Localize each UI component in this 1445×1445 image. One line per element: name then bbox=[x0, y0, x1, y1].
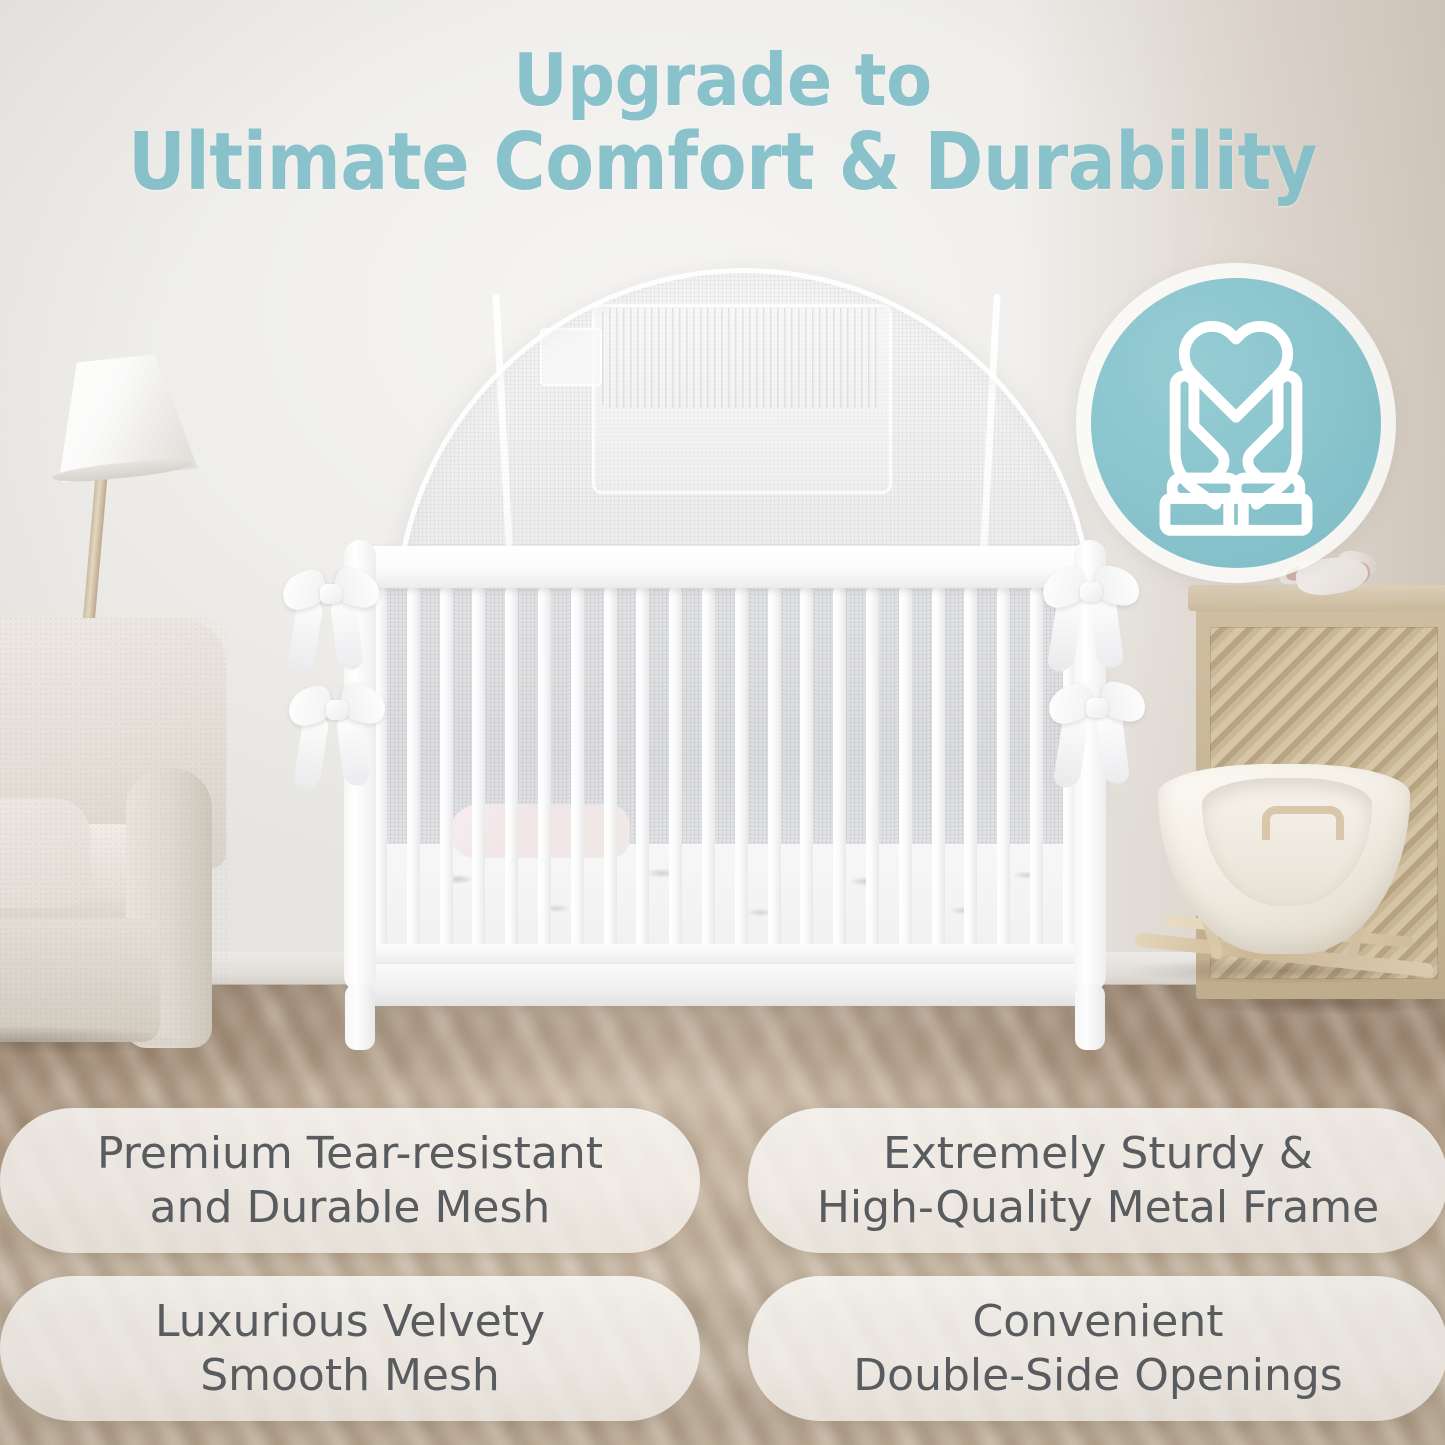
crib-slats bbox=[374, 586, 1076, 948]
crib-slat bbox=[669, 586, 682, 948]
crib-bow-lower-left bbox=[288, 678, 384, 798]
bow-knot bbox=[1086, 698, 1108, 718]
crib-slat bbox=[636, 586, 649, 948]
feature-pill-line-2: Double-Side Openings bbox=[853, 1349, 1342, 1403]
crib-bow-upper-left bbox=[282, 562, 378, 682]
feature-pill-velvety-mesh[interactable]: Luxurious Velvety Smooth Mesh bbox=[0, 1276, 700, 1421]
feature-pill-line-2: High-Quality Metal Frame bbox=[817, 1181, 1379, 1235]
crib-slat bbox=[964, 586, 977, 948]
product-feature-graphic: Upgrade to Ultimate Comfort & Durability bbox=[0, 0, 1445, 1445]
crib-slat bbox=[472, 586, 485, 948]
crib-slat bbox=[800, 586, 813, 948]
crib-foot-right bbox=[1075, 984, 1105, 1050]
crib-slat bbox=[866, 586, 879, 948]
crib-slat bbox=[604, 586, 617, 948]
crib-slat bbox=[997, 586, 1010, 948]
crib-slat bbox=[735, 586, 748, 948]
crib-frame bbox=[330, 546, 1120, 1058]
crib-slat bbox=[571, 586, 584, 948]
bow-tail-left bbox=[1052, 712, 1089, 789]
feature-pill-line-2: and Durable Mesh bbox=[97, 1181, 603, 1235]
hands-holding-heart-icon bbox=[1091, 278, 1381, 568]
armchair-shadow bbox=[0, 1026, 180, 1056]
bow-knot bbox=[320, 584, 342, 604]
headline-line-2: Ultimate Comfort & Durability bbox=[72, 125, 1373, 201]
headline: Upgrade to Ultimate Comfort & Durability bbox=[0, 46, 1445, 201]
feature-pill-line-1: Extremely Sturdy & bbox=[817, 1127, 1379, 1181]
feature-pill-line-1: Premium Tear-resistant bbox=[97, 1127, 603, 1181]
rocking-chair-wooden-handle bbox=[1262, 806, 1344, 840]
bow-tail-left bbox=[1046, 596, 1083, 673]
crib-slat bbox=[1030, 586, 1043, 948]
crib-slat bbox=[538, 586, 551, 948]
feature-badge bbox=[1076, 263, 1396, 583]
crib-slat bbox=[702, 586, 715, 948]
feature-pill-double-side-openings[interactable]: Convenient Double-Side Openings bbox=[748, 1276, 1445, 1421]
headline-line-1: Upgrade to bbox=[51, 46, 1395, 115]
boucle-armchair bbox=[0, 618, 260, 1048]
crib-slat bbox=[440, 586, 453, 948]
crib-with-canopy bbox=[330, 268, 1120, 1058]
crib-foot-left bbox=[345, 984, 375, 1050]
bow-tail-left bbox=[292, 714, 329, 791]
crib-slat bbox=[768, 586, 781, 948]
feature-pill-tear-resistant-mesh[interactable]: Premium Tear-resistant and Durable Mesh bbox=[0, 1108, 700, 1253]
crib-apron-panel bbox=[356, 964, 1094, 1006]
crib-slat bbox=[407, 586, 420, 948]
crib-bow-lower-right bbox=[1048, 676, 1144, 796]
bow-tail-right bbox=[330, 599, 364, 672]
bow-knot bbox=[1080, 582, 1102, 602]
feature-pill-line-1: Luxurious Velvety bbox=[155, 1295, 545, 1349]
bow-knot bbox=[326, 700, 348, 720]
bow-tail-right bbox=[1090, 597, 1124, 670]
bow-tail-right bbox=[1096, 713, 1130, 786]
crib-bottom-rail bbox=[356, 944, 1094, 966]
crib-slat bbox=[899, 586, 912, 948]
crib-slat bbox=[932, 586, 945, 948]
feature-pills: Premium Tear-resistant and Durable Mesh … bbox=[0, 1108, 1445, 1438]
crib-slat bbox=[833, 586, 846, 948]
feature-pill-line-2: Smooth Mesh bbox=[155, 1349, 545, 1403]
crib-top-rail bbox=[356, 546, 1094, 588]
feature-pill-metal-frame[interactable]: Extremely Sturdy & High-Quality Metal Fr… bbox=[748, 1108, 1445, 1253]
crib-slat bbox=[505, 586, 518, 948]
bow-tail-left bbox=[286, 598, 323, 675]
moon-rocking-chair bbox=[1140, 758, 1440, 1028]
feature-pill-line-1: Convenient bbox=[853, 1295, 1342, 1349]
bow-tail-right bbox=[336, 715, 370, 788]
armchair-boucle-texture bbox=[0, 618, 230, 1048]
